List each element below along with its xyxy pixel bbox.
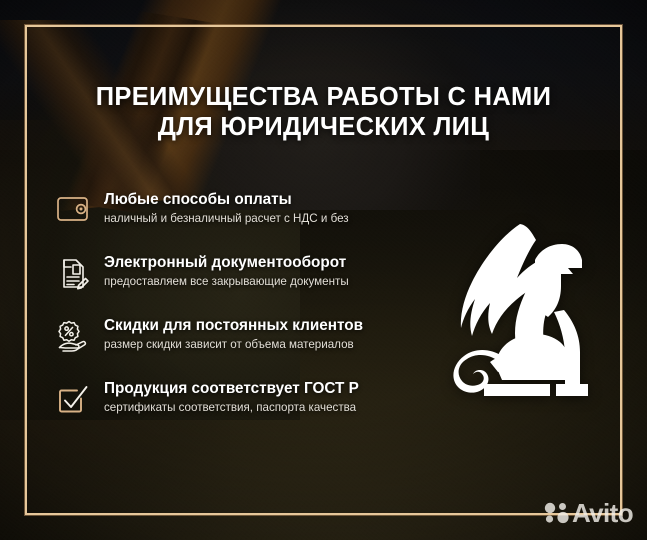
feature-subtitle: предоставляем все закрывающие документы	[104, 274, 349, 290]
avito-watermark: Avito	[543, 500, 633, 526]
feature-title: Продукция соответствует ГОСТ Р	[104, 379, 359, 398]
feature-text: Электронный документооборот предоставляе…	[100, 253, 349, 290]
avito-logo-icon	[543, 502, 569, 524]
feature-subtitle: размер скидки зависит от объема материал…	[104, 337, 363, 353]
document-pencil-icon	[56, 253, 100, 291]
feature-title: Любые способы оплаты	[104, 190, 349, 209]
percent-hand-icon	[56, 316, 100, 352]
feature-text: Любые способы оплаты наличный и безналич…	[100, 190, 349, 227]
feature-text: Продукция соответствует ГОСТ Р сертифика…	[100, 379, 359, 416]
feature-subtitle: наличный и безналичный расчет с НДС и бе…	[104, 211, 349, 227]
checkbox-check-icon	[56, 379, 100, 415]
feature-item: Любые способы оплаты наличный и безналич…	[56, 190, 426, 253]
feature-item: Скидки для постоянных клиентов размер ск…	[56, 316, 426, 379]
headline: ПРЕИМУЩЕСТВА РАБОТЫ С НАМИ ДЛЯ ЮРИДИЧЕСК…	[0, 82, 647, 142]
griffin-logo	[428, 216, 592, 402]
feature-subtitle: сертификаты соответствия, паспорта качес…	[104, 400, 359, 416]
feature-title: Скидки для постоянных клиентов	[104, 316, 363, 335]
feature-item: Электронный документооборот предоставляе…	[56, 253, 426, 316]
feature-list: Любые способы оплаты наличный и безналич…	[56, 190, 426, 442]
avito-wordmark: Avito	[572, 500, 633, 526]
promo-banner: ПРЕИМУЩЕСТВА РАБОТЫ С НАМИ ДЛЯ ЮРИДИЧЕСК…	[0, 0, 647, 540]
feature-item: Продукция соответствует ГОСТ Р сертифика…	[56, 379, 426, 442]
headline-line-1: ПРЕИМУЩЕСТВА РАБОТЫ С НАМИ	[96, 83, 551, 111]
feature-text: Скидки для постоянных клиентов размер ск…	[100, 316, 363, 353]
headline-line-2: ДЛЯ ЮРИДИЧЕСКИХ ЛИЦ	[40, 112, 607, 142]
feature-title: Электронный документооборот	[104, 253, 349, 272]
wallet-icon	[56, 190, 100, 224]
